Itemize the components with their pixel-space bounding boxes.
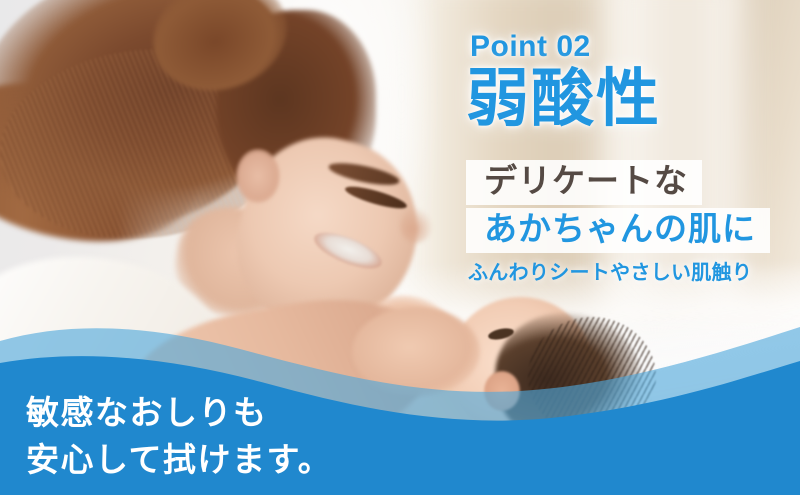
headline: 弱酸性 bbox=[466, 68, 661, 131]
bottom-copy: 敏感なおしりも 安心して拭けます。 bbox=[26, 390, 332, 484]
feature-subline: ふんわりシートやさしい肌触り bbox=[468, 256, 752, 285]
mother-ear bbox=[236, 149, 280, 203]
feature-band-line-2: あかちゃんの肌に bbox=[466, 208, 770, 253]
feature-band-line-1: デリケートな bbox=[466, 160, 702, 205]
bottom-copy-line-1: 敏感なおしりも bbox=[26, 390, 332, 437]
point-label: Point 02 bbox=[470, 30, 591, 64]
bottom-copy-line-2: 安心して拭けます。 bbox=[26, 437, 332, 484]
mother-nose bbox=[400, 208, 432, 243]
promo-banner: Point 02 弱酸性 デリケートな あかちゃんの肌に ふんわりシートやさしい… bbox=[0, 0, 800, 495]
